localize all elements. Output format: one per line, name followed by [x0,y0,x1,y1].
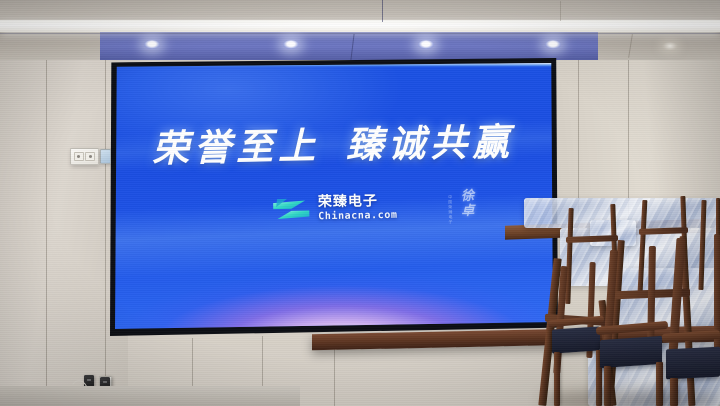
switch-rocker-2[interactable] [85,152,95,161]
company-logo: 荣臻电子 Chinacna.com [115,191,553,226]
display-content: 荣誉至上臻诚共赢 荣臻电子 [115,63,553,329]
ceiling-light-strip [0,20,720,32]
switch-rocker-1[interactable] [74,152,84,161]
ceiling-grid-line-4 [560,1,561,21]
headline-left: 荣誉至上 [152,123,321,170]
ceiling-edge-line [0,33,720,34]
signature-big-text: 徐卓 [456,188,476,218]
wall-outlet-upper[interactable] [100,149,111,164]
led-display[interactable]: 荣誉至上臻诚共赢 荣臻电子 [115,63,553,329]
furniture-shadow [540,390,720,406]
room-scene: 荣誉至上臻诚共赢 荣臻电子 [0,0,720,406]
signature-small-text: 中国荣臻电子 [447,195,454,225]
left-wall-panels [0,54,128,406]
ceiling-panel-right [598,32,720,60]
logo-company-url: Chinacna.com [318,211,398,223]
wall-light-switch[interactable] [70,148,99,165]
display-signature: 中国荣臻电子 徐卓 [447,188,476,225]
logo-company-name: 荣臻电子 [318,194,398,210]
wall-seam-1 [46,58,47,406]
ceiling-grid-line-1 [382,0,383,22]
headline-right: 臻诚共赢 [346,120,515,167]
downlight-5 [662,42,678,51]
floor [0,386,300,406]
display-headline: 荣誉至上臻诚共赢 [115,111,552,173]
downlight-3 [418,40,434,49]
wall-seam-2 [105,58,106,406]
chinacna-arrow-logo-icon [271,196,311,223]
ceiling-panel-left [0,32,102,60]
downlight-4 [545,40,561,49]
downlight-2 [283,40,299,49]
downlight-1 [144,40,160,49]
